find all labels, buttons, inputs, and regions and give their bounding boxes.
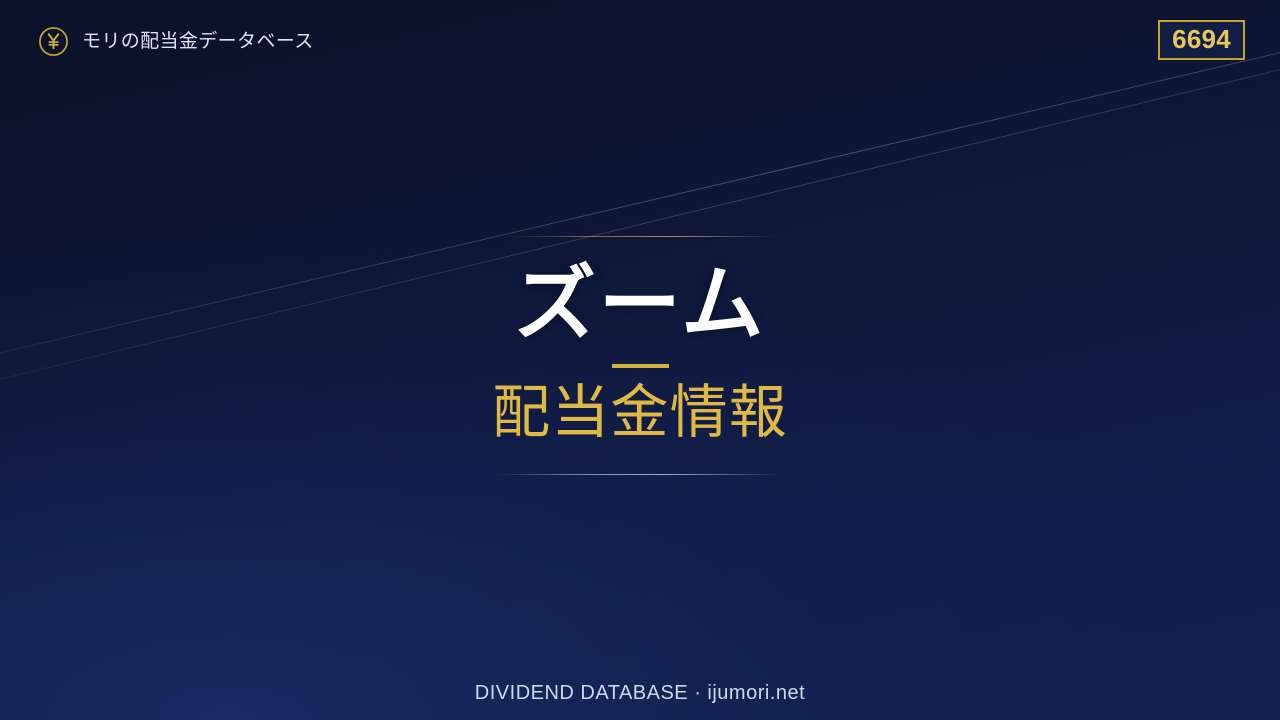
gold-divider bbox=[612, 364, 669, 368]
header-bar: モリの配当金データベース 6694 bbox=[0, 0, 1280, 90]
brand-lockup: モリの配当金データベース bbox=[38, 26, 314, 57]
footer-caption: DIVIDEND DATABASE · ijumori.net bbox=[0, 680, 1280, 706]
brand-title: モリの配当金データベース bbox=[82, 32, 314, 51]
bottom-rule bbox=[497, 474, 783, 475]
title-block: ズーム 配当金情報 bbox=[0, 236, 1280, 475]
sub-title: 配当金情報 bbox=[492, 383, 788, 444]
title-slide: モリの配当金データベース 6694 ズーム 配当金情報 DIVIDEND DAT… bbox=[0, 0, 1280, 720]
yen-circle-icon bbox=[38, 26, 69, 57]
main-title: ズーム bbox=[514, 263, 766, 347]
top-rule bbox=[503, 236, 777, 237]
stock-code-badge: 6694 bbox=[1158, 20, 1245, 60]
